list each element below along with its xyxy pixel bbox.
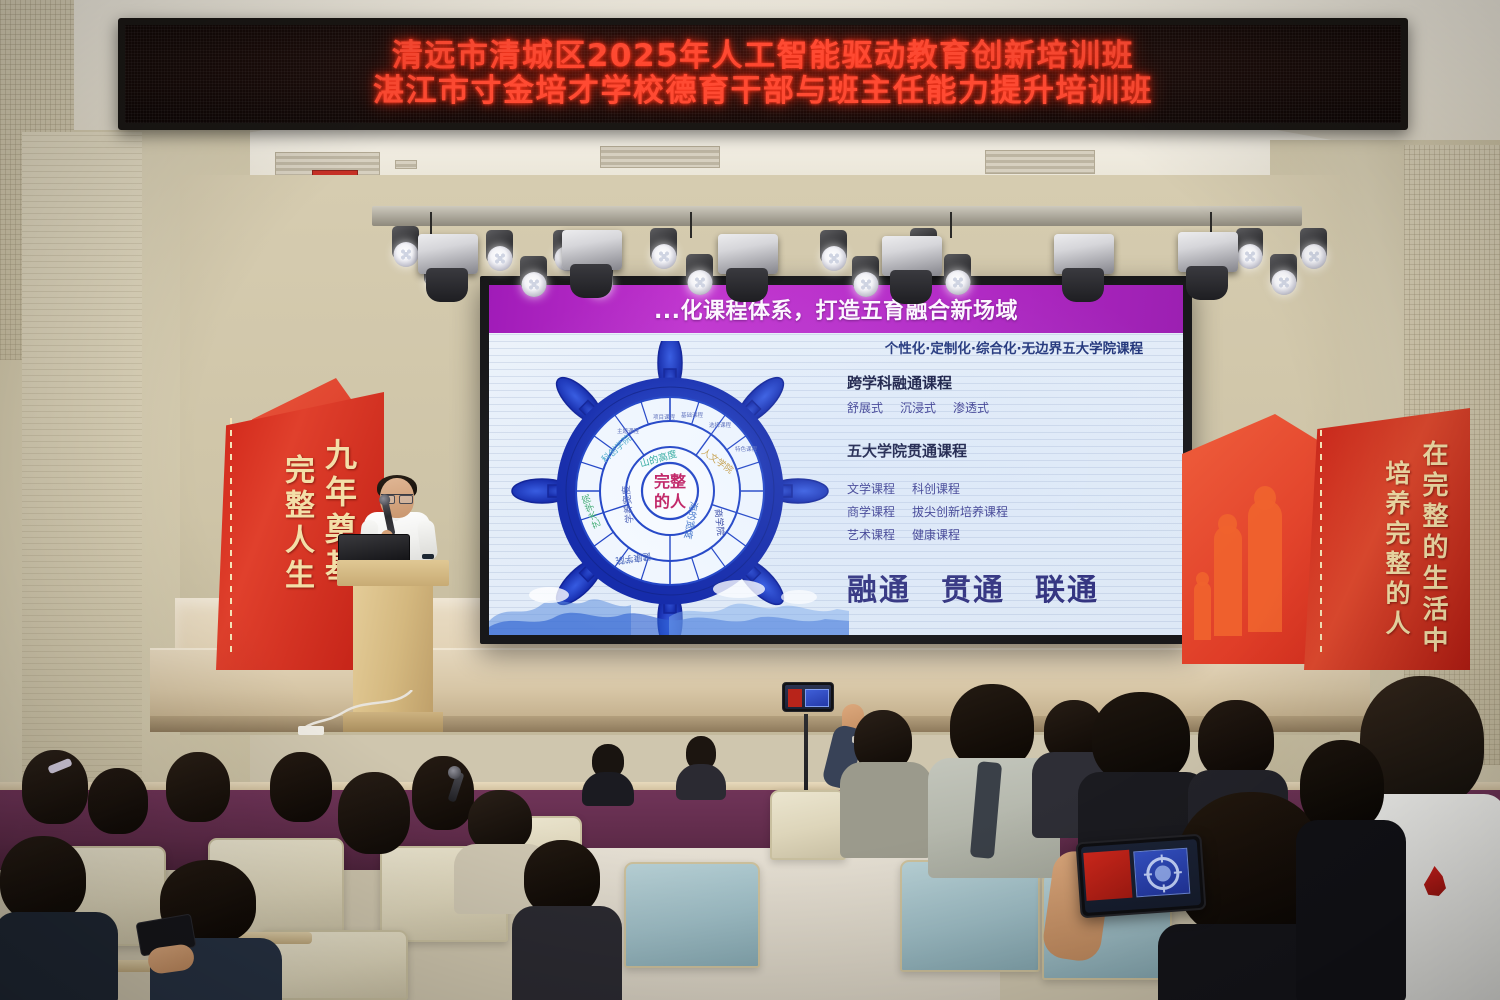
wheel-center-line2: 的人: [654, 492, 687, 511]
banner-right: 在完整的生活中 培养完整的人: [1182, 408, 1470, 670]
tripod-phone[interactable]: [782, 682, 834, 712]
moving-head-yoke: [1186, 266, 1228, 300]
truss-wire-3: [950, 212, 952, 238]
attendee-head: [1092, 692, 1190, 784]
par-can-14: [1270, 254, 1297, 288]
slide-title: ...化课程体系，打造五育融合新场域: [654, 293, 1018, 325]
slide-item-chenjin: 沉浸式: [900, 399, 936, 416]
attendee-head: [270, 752, 332, 822]
moving-head-yoke: [726, 268, 768, 302]
slide-course-row-3: 艺术课程 健康课程: [847, 526, 1183, 543]
attendee-head: [1198, 700, 1274, 780]
projection-screen: ...化课程体系，打造五育融合新场域 个性化·定制化·综合化·无边界五大学院课程: [480, 276, 1192, 644]
attendee-far-1: [582, 744, 634, 800]
led-banner-line2: 湛江市寸金培才学校德育干部与班主任能力提升培训班: [373, 74, 1153, 109]
led-screen: 清远市清城区2025年人工智能驱动教育创新培训班 湛江市寸金培才学校德育干部与班…: [125, 25, 1401, 123]
slide-subtitle: 个性化·定制化·综合化·无边界五大学院课程: [849, 337, 1179, 357]
moving-head-yoke: [1062, 268, 1104, 302]
silhouette-child: [1194, 582, 1211, 640]
slide-keyword-guantong: 贯通: [941, 565, 1005, 609]
wheel-outer-label-2: 基础课程: [681, 411, 704, 419]
attendee-phone-right[interactable]: [1076, 834, 1207, 919]
moving-head-light-3: [718, 234, 778, 274]
attendee-body: [840, 762, 932, 858]
attendee-head: [0, 836, 86, 922]
par-lens-icon: [687, 270, 712, 295]
attendee-head: [1300, 740, 1384, 832]
seat-6[interactable]: [624, 862, 760, 968]
ceiling-vent-2: [600, 146, 720, 168]
slide-item-shentou: 渗透式: [953, 399, 989, 416]
slide-keywords: 融通 贯通 联通: [847, 565, 1183, 609]
moving-head-yoke: [890, 270, 932, 304]
moving-head-light-2: [562, 230, 622, 270]
par-lens-icon: [1237, 244, 1262, 269]
moving-head-light-4: [1054, 234, 1114, 274]
attendee-left-3: [162, 752, 238, 846]
banner-right-dashed-border: [1320, 430, 1322, 656]
par-lens-icon: [821, 246, 846, 271]
slide-section1-items: 舒展式 沉浸式 渗透式: [847, 399, 1183, 416]
attendee-far-2: [676, 736, 726, 794]
attendee-head: [88, 768, 148, 834]
wheel-outer-label-3: 选择课程: [709, 421, 732, 429]
slide-course-row-1: 文学课程 科创课程: [847, 480, 1183, 497]
attendee-left-10: [512, 840, 622, 1000]
tripod-phone-stage-view: [788, 689, 802, 707]
par-can-15: [1300, 228, 1327, 262]
attendee-body: [582, 772, 634, 806]
par-can-9: [820, 230, 847, 264]
wristwatch-icon: [422, 554, 434, 559]
attendee-head: [338, 772, 410, 854]
led-banner-line1: 清远市清城区2025年人工智能驱动教育创新培训班: [392, 39, 1134, 74]
slide-item-shuzhan: 舒展式: [847, 399, 883, 416]
slide-course-health: 健康课程: [912, 526, 960, 543]
attendee-body: [0, 912, 118, 1000]
slide-text-column: 跨学科融通课程 舒展式 沉浸式 渗透式 五大学院贯通课程 文学课程 科创课程 商…: [847, 361, 1183, 609]
par-lens-icon: [945, 270, 970, 295]
par-lens-icon: [521, 272, 546, 297]
attendee-left-5: [268, 752, 340, 842]
attendee-phone-screen: [1081, 839, 1201, 913]
phone-view-banner: [1083, 850, 1132, 901]
moving-head-yoke: [426, 268, 468, 302]
moving-head-light-5: [1178, 232, 1238, 272]
slide-section2-heading: 五大学院贯通课程: [847, 440, 1183, 461]
attendee-head: [22, 750, 88, 824]
par-lens-icon: [1271, 270, 1296, 295]
attendee-left-4: [0, 836, 120, 1000]
banner-right-line2: 培养完整的人: [1378, 460, 1414, 640]
par-can-3: [486, 230, 513, 264]
podium-top: [337, 560, 449, 586]
wheel-outer-label-1: 项目课程: [653, 413, 676, 421]
silhouette-teen: [1214, 526, 1242, 636]
ceiling-vent-4: [395, 160, 417, 169]
tripod-phone-screen: [785, 685, 831, 709]
par-lens-icon: [1301, 244, 1326, 269]
led-banner: 清远市清城区2025年人工智能驱动教育创新培训班 湛江市寸金培才学校德育干部与班…: [118, 18, 1408, 130]
par-can-1: [392, 226, 419, 260]
par-lens-icon: [393, 242, 418, 267]
slide-course-stem: 科创课程: [912, 480, 960, 497]
slide-keyword-liantong: 联通: [1035, 565, 1099, 609]
acoustic-panel-left-inner: [22, 132, 142, 832]
power-strip: [298, 726, 324, 735]
truss-wire-2: [690, 212, 692, 238]
moving-head-yoke: [570, 264, 612, 298]
silhouette-head-teen: [1218, 514, 1237, 534]
attendee-head: [524, 840, 600, 916]
slide-keyword-rongtong: 融通: [847, 565, 911, 609]
attendee-body: [676, 764, 726, 800]
seat-9[interactable]: [770, 790, 846, 860]
par-lens-icon: [651, 244, 676, 269]
phone-view-wheel-icon: [1134, 849, 1191, 899]
laptop: [338, 534, 410, 562]
moving-head-light-6: [882, 236, 942, 276]
tripod-phone-slide-view: [805, 689, 829, 707]
phone-view-slide: [1133, 848, 1190, 898]
slide-course-business: 商学课程: [847, 503, 895, 520]
par-can-4: [520, 256, 547, 290]
silhouette-head-adult: [1254, 486, 1276, 510]
par-can-7: [650, 228, 677, 262]
par-can-8: [686, 254, 713, 288]
par-can-10: [852, 256, 879, 290]
silhouette-head-child: [1196, 572, 1209, 586]
slide-course-literature: 文学课程: [847, 480, 895, 497]
wheel-outer-label-5: 特色课程: [735, 445, 758, 453]
ceiling-vent-3: [985, 150, 1095, 174]
attendee-foreground-right-3: [1296, 740, 1406, 1000]
par-can-12: [944, 254, 971, 288]
banner-left-dashed-border: [230, 418, 232, 656]
attendee-body: [512, 906, 622, 1000]
lighting-truss: [372, 206, 1302, 226]
banner-right-line1: 在完整的生活中: [1415, 440, 1452, 657]
slide-course-innovation: 拔尖创新培养课程: [912, 503, 1008, 520]
silhouette-adult: [1248, 500, 1282, 632]
par-can-13: [1236, 228, 1263, 262]
wheel-outer-label-4: 主题课程: [617, 427, 640, 435]
slide-section1-heading: 跨学科融通课程: [847, 372, 1183, 393]
slide: ...化课程体系，打造五育融合新场域 个性化·定制化·综合化·无边界五大学院课程: [489, 285, 1183, 635]
banner-left-line2: 完整人生: [274, 454, 318, 594]
auditorium-scene: 清远市清城区2025年人工智能驱动教育创新培训班 湛江市寸金培才学校德育干部与班…: [0, 0, 1500, 1000]
slide-course-art: 艺术课程: [847, 526, 895, 543]
attendee-left-6: [334, 772, 420, 876]
wheel-center-line1: 完整: [654, 472, 686, 491]
attendee-center-1: [840, 710, 930, 840]
attendee-body: [1296, 820, 1406, 1000]
moving-head-light-1: [418, 234, 478, 274]
attendee-head: [166, 752, 230, 822]
par-lens-icon: [487, 246, 512, 271]
table-microphone-head-icon: [448, 766, 461, 779]
slide-course-row-2: 商学课程 拔尖创新培养课程: [847, 503, 1183, 520]
par-lens-icon: [853, 272, 878, 297]
